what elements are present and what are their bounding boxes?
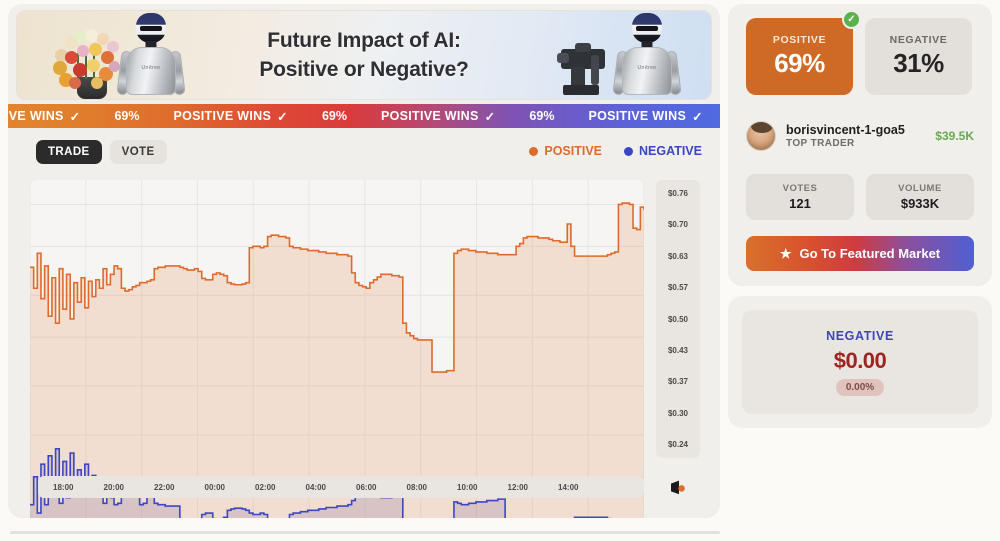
legend-positive-dot: [529, 147, 538, 156]
outcome-negative-value: 31%: [893, 48, 944, 79]
x-tick: 10:00: [442, 483, 493, 492]
banner-title: Future Impact of AI: Positive or Negativ…: [17, 11, 711, 99]
go-to-featured-market-label: Go To Featured Market: [800, 246, 941, 261]
y-tick: $0.70: [668, 220, 688, 229]
ticker-label: POSITIVE WINS ✓: [8, 109, 100, 124]
app-root: Unitree Future Impact of AI: Positive or…: [0, 0, 1000, 541]
outcome-positive[interactable]: POSITIVE 69% ✓: [746, 18, 853, 95]
stat-volume-value: $933K: [901, 196, 939, 211]
stats-row: VOTES 121 VOLUME $933K: [746, 174, 974, 220]
market-card: Unitree Future Impact of AI: Positive or…: [8, 4, 720, 518]
chart-legend: POSITIVE NEGATIVE: [529, 144, 702, 158]
x-tick: 04:00: [291, 483, 342, 492]
position-panel[interactable]: NEGATIVE $0.00 0.00%: [742, 310, 978, 414]
y-tick: $0.37: [668, 377, 688, 386]
x-tick: 06:00: [341, 483, 392, 492]
outcome-negative[interactable]: NEGATIVE 31%: [865, 18, 972, 95]
top-trader-row[interactable]: borisvincent-1-goa5 TOP TRADER $39.5K: [746, 116, 974, 156]
check-icon: ✓: [692, 109, 703, 124]
banner-title-line1: Future Impact of AI:: [267, 28, 461, 54]
stat-volume: VOLUME $933K: [866, 174, 974, 220]
check-icon: ✓: [277, 109, 288, 124]
y-tick: $0.50: [668, 315, 688, 324]
polymarket-logo-icon: [666, 476, 690, 498]
avatar: [746, 121, 776, 151]
ticker-percent: 69%: [515, 109, 568, 123]
legend-positive[interactable]: POSITIVE: [529, 144, 602, 158]
price-chart[interactable]: [30, 180, 644, 518]
x-tick: 00:00: [190, 483, 241, 492]
x-tick: 12:00: [493, 483, 544, 492]
stat-volume-label: VOLUME: [898, 183, 942, 194]
market-banner[interactable]: Unitree Future Impact of AI: Positive or…: [16, 10, 712, 100]
stat-votes-value: 121: [789, 196, 811, 211]
star-icon: ★: [780, 246, 792, 262]
price-chart-svg: [30, 180, 644, 518]
trader-amount: $39.5K: [935, 129, 974, 143]
position-side: NEGATIVE: [826, 329, 894, 343]
x-tick: 20:00: [89, 483, 140, 492]
legend-positive-label: POSITIVE: [544, 144, 602, 158]
x-tick: 22:00: [139, 483, 190, 492]
chart-x-axis: 18:0020:0022:0000:0002:0004:0006:0008:00…: [38, 476, 644, 498]
legend-negative-label: NEGATIVE: [639, 144, 702, 158]
y-tick: $0.76: [668, 189, 688, 198]
legend-negative-dot: [624, 147, 633, 156]
legend-negative[interactable]: NEGATIVE: [624, 144, 702, 158]
outcome-positive-value: 69%: [774, 48, 825, 79]
chart-y-axis: $0.76$0.70$0.63$0.57$0.50$0.43$0.37$0.30…: [656, 180, 700, 458]
outcome-row: POSITIVE 69% ✓ NEGATIVE 31%: [746, 18, 972, 95]
go-to-featured-market-button[interactable]: ★ Go To Featured Market: [746, 236, 974, 271]
y-tick: $0.43: [668, 346, 688, 355]
ticker-percent: 69%: [100, 109, 153, 123]
check-icon: ✓: [485, 109, 496, 124]
page-divider: [10, 531, 720, 534]
y-tick: $0.24: [668, 440, 688, 449]
ticker-label: POSITIVE WINS ✓: [361, 109, 515, 124]
outcome-positive-label: POSITIVE: [773, 34, 826, 46]
selected-check-icon: ✓: [842, 10, 861, 29]
trade-tab[interactable]: TRADE: [36, 140, 102, 164]
x-tick: 02:00: [240, 483, 291, 492]
stat-votes: VOTES 121: [746, 174, 854, 220]
ticker-label: POSITIVE WINS ✓: [568, 109, 720, 124]
positive-wins-ticker: POSITIVE WINS ✓69%POSITIVE WINS ✓69%POSI…: [8, 104, 720, 128]
stat-votes-label: VOTES: [783, 183, 818, 194]
y-tick: $0.30: [668, 409, 688, 418]
check-icon: ✓: [70, 109, 81, 124]
ticker-percent: 69%: [308, 109, 361, 123]
position-change-badge: 0.00%: [836, 379, 884, 396]
x-tick: 14:00: [543, 483, 594, 492]
y-tick: $0.63: [668, 252, 688, 261]
user-position-card: NEGATIVE $0.00 0.00%: [728, 296, 992, 428]
ticker-label: POSITIVE WINS ✓: [153, 109, 307, 124]
vote-tab[interactable]: VOTE: [110, 140, 167, 164]
chart-mode-toggle: TRADE VOTE: [36, 140, 167, 164]
x-tick: 18:00: [38, 483, 89, 492]
y-tick: $0.57: [668, 283, 688, 292]
position-value: $0.00: [834, 348, 887, 374]
trader-name: borisvincent-1-goa5: [786, 123, 925, 137]
trader-badge: TOP TRADER: [786, 138, 925, 149]
banner-title-line2: Positive or Negative?: [259, 57, 468, 83]
market-summary-card: POSITIVE 69% ✓ NEGATIVE 31% borisvincent…: [728, 4, 992, 286]
chart-panel: TRADE VOTE POSITIVE NEGATIVE $0.76$0.70$…: [8, 128, 720, 514]
outcome-negative-label: NEGATIVE: [890, 34, 948, 46]
x-tick: 08:00: [392, 483, 443, 492]
